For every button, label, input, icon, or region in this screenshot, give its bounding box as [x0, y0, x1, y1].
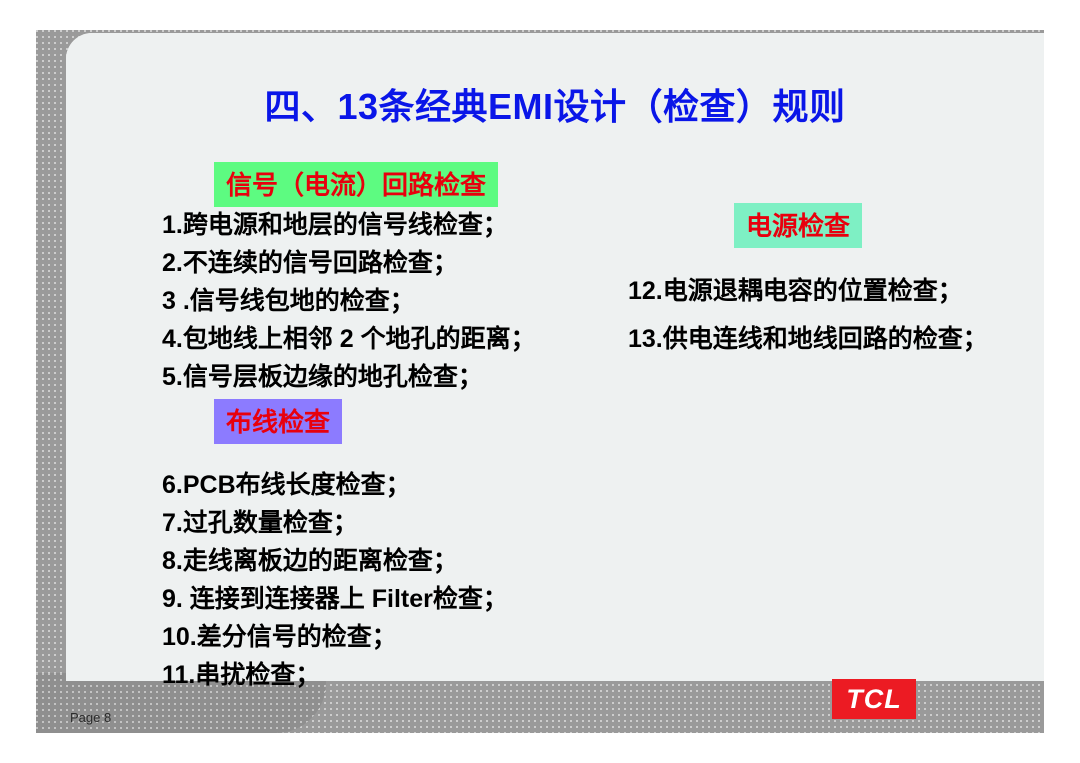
list-item: 11.串扰检查； [162, 655, 320, 691]
content-panel-inner: 四、13条经典EMI设计（检查）规则 信号（电流）回路检查 1.跨电源和地层的信… [66, 33, 1044, 681]
list-item: 8.走线离板边的距离检查； [162, 541, 458, 577]
list-item: 5.信号层板边缘的地孔检查； [162, 357, 483, 393]
list-item: 4.包地线上相邻 2 个地孔的距离； [162, 319, 536, 355]
section-header-wiring: 布线检查 [214, 399, 342, 444]
list-item: 12.电源退耦电容的位置检查； [628, 271, 963, 307]
list-item: 2.不连续的信号回路检查； [162, 243, 458, 279]
list-item: 3 .信号线包地的检查； [162, 281, 415, 317]
list-item: 10.差分信号的检查； [162, 617, 397, 653]
section-header-power: 电源检查 [734, 203, 862, 248]
list-item: 6.PCB布线长度检查； [162, 465, 411, 501]
list-item: 13.供电连线和地线回路的检查； [628, 319, 988, 355]
section-header-signal: 信号（电流）回路检查 [214, 162, 498, 207]
content-panel: 四、13条经典EMI设计（检查）规则 信号（电流）回路检查 1.跨电源和地层的信… [66, 33, 1044, 681]
list-item: 1.跨电源和地层的信号线检查； [162, 205, 508, 241]
tcl-logo: TCL [832, 679, 916, 719]
page-title: 四、13条经典EMI设计（检查）规则 [66, 78, 1044, 130]
page-number: Page 8 [70, 710, 111, 725]
list-item: 9. 连接到连接器上 Filter检查； [162, 579, 508, 615]
list-item: 7.过孔数量检查； [162, 503, 358, 539]
slide: 四、13条经典EMI设计（检查）规则 信号（电流）回路检查 1.跨电源和地层的信… [0, 0, 1080, 763]
